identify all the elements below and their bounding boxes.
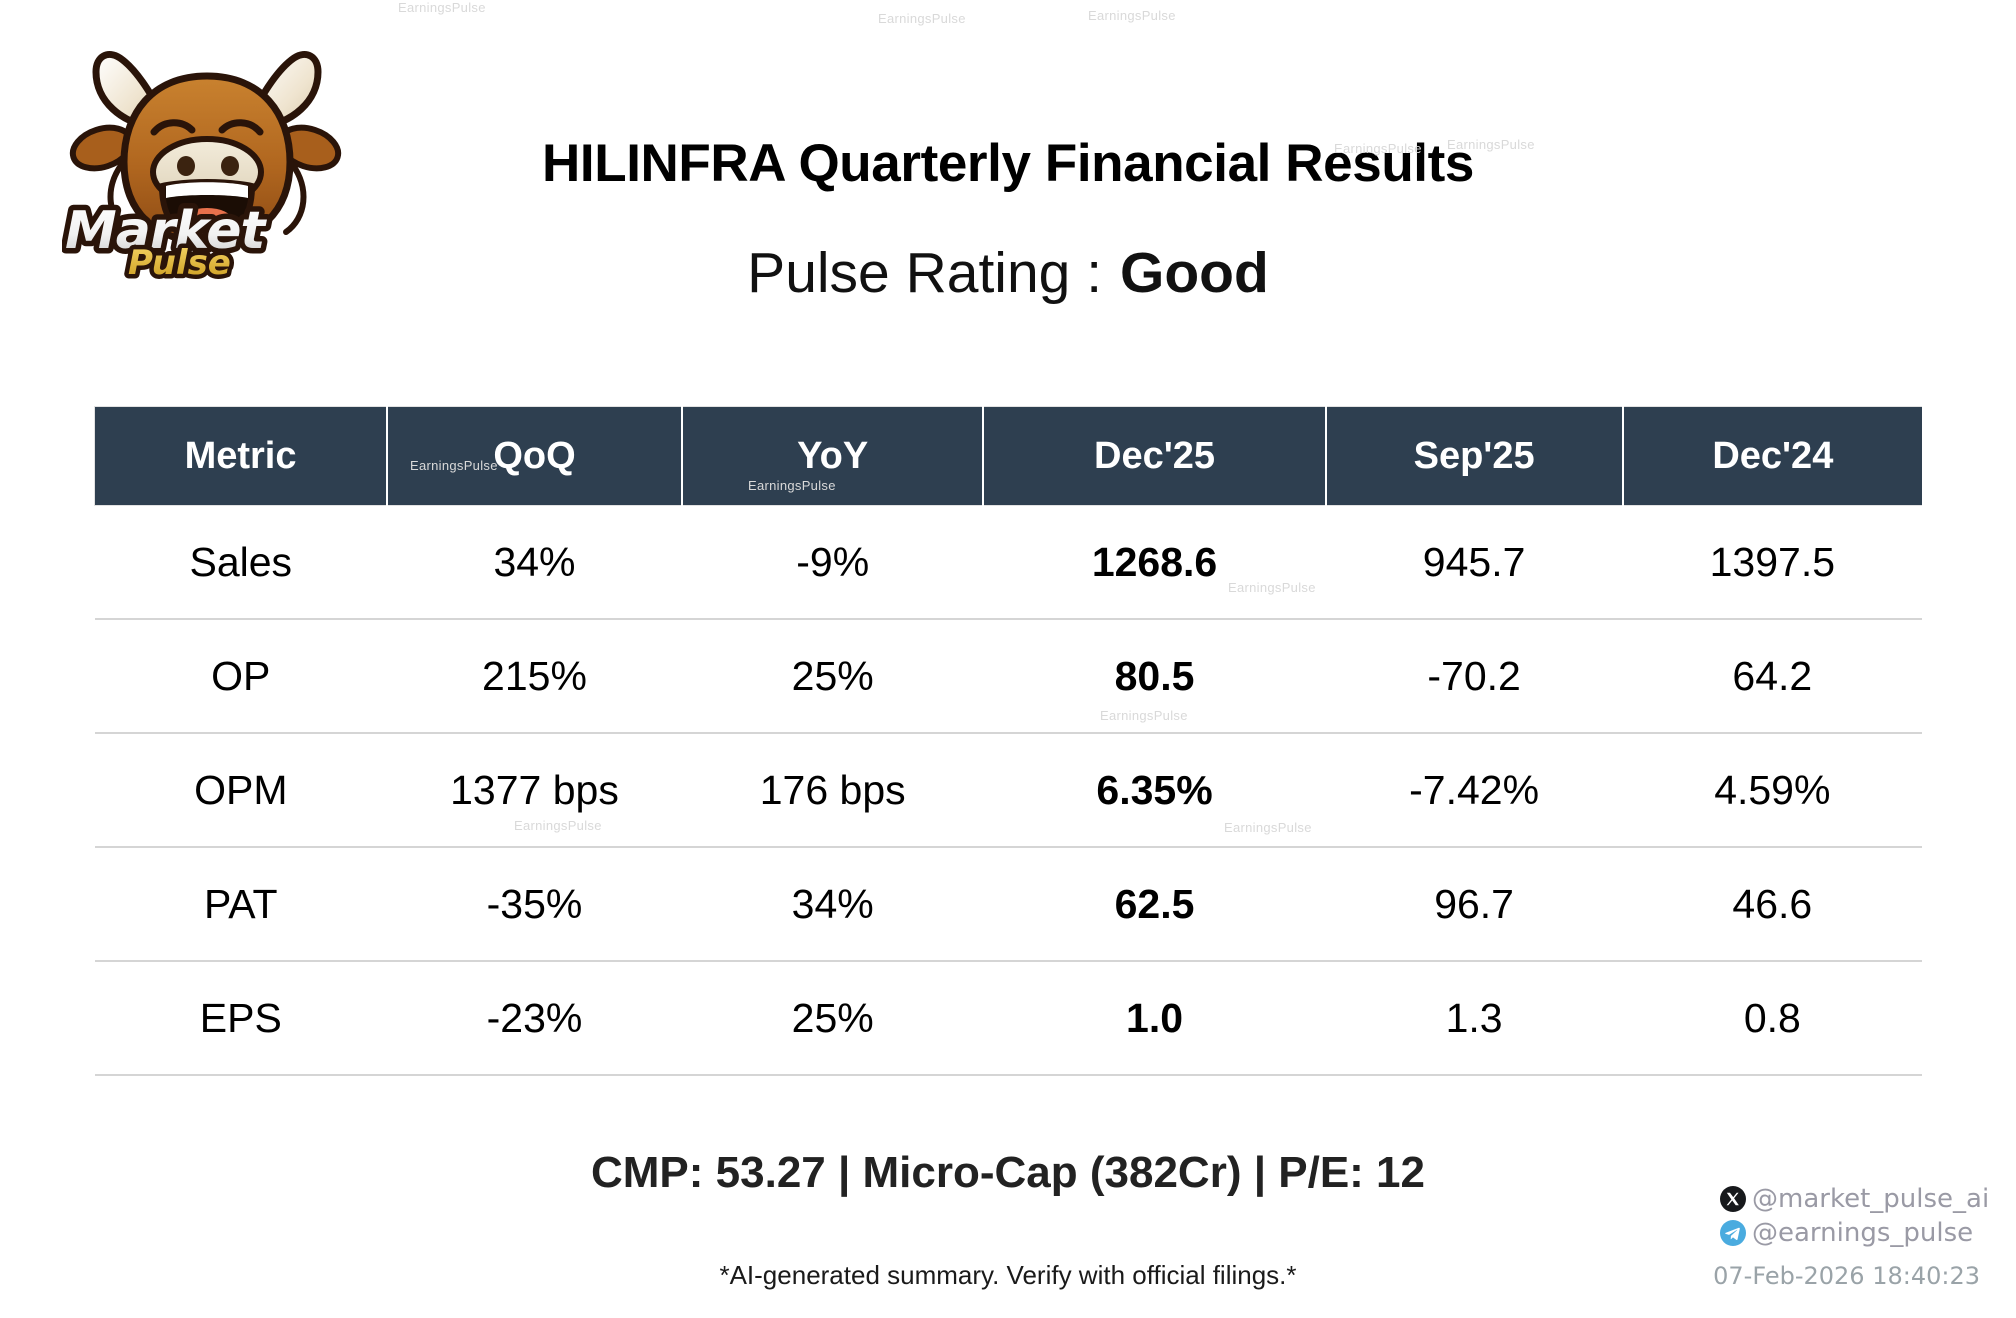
column-header-yoy: YoY	[682, 407, 984, 506]
cell-sep25: 945.7	[1326, 506, 1623, 620]
cell-yoy: 25%	[682, 619, 984, 733]
cell-sep25: -70.2	[1326, 619, 1623, 733]
pulse-rating: Pulse Rating :Good	[0, 240, 2016, 306]
table-row: OP 215% 25% 80.5 -70.2 64.2	[95, 619, 1923, 733]
cell-qoq: 34%	[387, 506, 682, 620]
table-row: Sales 34% -9% 1268.6 945.7 1397.5	[95, 506, 1923, 620]
cell-dec25: 6.35%	[983, 733, 1325, 847]
table-header: Metric QoQ YoY Dec'25 Sep'25 Dec'24	[95, 407, 1923, 506]
cell-yoy: -9%	[682, 506, 984, 620]
cell-yoy: 25%	[682, 961, 984, 1075]
cell-yoy: 34%	[682, 847, 984, 961]
cell-qoq: -35%	[387, 847, 682, 961]
cell-dec25: 62.5	[983, 847, 1325, 961]
page-title: HILINFRA Quarterly Financial Results	[0, 133, 2016, 194]
table-header-row: Metric QoQ YoY Dec'25 Sep'25 Dec'24	[95, 407, 1923, 506]
cell-qoq: -23%	[387, 961, 682, 1075]
cell-sep25: -7.42%	[1326, 733, 1623, 847]
cell-metric: OPM	[95, 733, 388, 847]
column-header-sep25: Sep'25	[1326, 407, 1623, 506]
generated-timestamp: 07-Feb-2026 18:40:23	[1713, 1262, 1980, 1290]
cell-dec25: 1268.6	[983, 506, 1325, 620]
telegram-icon[interactable]	[1720, 1220, 1746, 1246]
column-header-qoq: QoQ	[387, 407, 682, 506]
social-handle-telegram[interactable]: @earnings_pulse	[1752, 1218, 1973, 1248]
social-row-telegram[interactable]: @earnings_pulse	[1720, 1216, 1980, 1250]
column-header-metric: Metric	[95, 407, 388, 506]
watermark-1: EarningsPulse	[878, 11, 966, 26]
cell-metric: EPS	[95, 961, 388, 1075]
pulse-rating-label: Pulse Rating :	[747, 241, 1102, 305]
cell-metric: PAT	[95, 847, 388, 961]
watermark-0: EarningsPulse	[398, 0, 486, 15]
table-body: Sales 34% -9% 1268.6 945.7 1397.5 OP 215…	[95, 506, 1923, 1076]
table-row: PAT -35% 34% 62.5 96.7 46.6	[95, 847, 1923, 961]
cell-metric: Sales	[95, 506, 388, 620]
cell-dec25: 1.0	[983, 961, 1325, 1075]
watermark-2: EarningsPulse	[1088, 8, 1176, 23]
cell-dec24: 64.2	[1623, 619, 1922, 733]
cell-dec25: 80.5	[983, 619, 1325, 733]
cell-sep25: 1.3	[1326, 961, 1623, 1075]
cell-dec24: 0.8	[1623, 961, 1922, 1075]
cell-metric: OP	[95, 619, 388, 733]
cell-qoq: 1377 bps	[387, 733, 682, 847]
social-handles: @market_pulse_ai @earnings_pulse	[1720, 1182, 1980, 1250]
cell-qoq: 215%	[387, 619, 682, 733]
cell-sep25: 96.7	[1326, 847, 1623, 961]
cell-dec24: 1397.5	[1623, 506, 1922, 620]
financial-results-table: Metric QoQ YoY Dec'25 Sep'25 Dec'24 Sale…	[94, 406, 1922, 1076]
pulse-rating-value: Good	[1120, 241, 1269, 305]
social-handle-x[interactable]: @market_pulse_ai	[1752, 1184, 1989, 1214]
table-row: EPS -23% 25% 1.0 1.3 0.8	[95, 961, 1923, 1075]
valuation-summary: CMP: 53.27 | Micro-Cap (382Cr) | P/E: 12	[0, 1148, 2016, 1198]
table-row: OPM 1377 bps 176 bps 6.35% -7.42% 4.59%	[95, 733, 1923, 847]
column-header-dec25: Dec'25	[983, 407, 1325, 506]
column-header-dec24: Dec'24	[1623, 407, 1922, 506]
social-row-x[interactable]: @market_pulse_ai	[1720, 1182, 1980, 1216]
cell-dec24: 4.59%	[1623, 733, 1922, 847]
cell-yoy: 176 bps	[682, 733, 984, 847]
x-twitter-icon[interactable]	[1720, 1186, 1746, 1212]
cell-dec24: 46.6	[1623, 847, 1922, 961]
